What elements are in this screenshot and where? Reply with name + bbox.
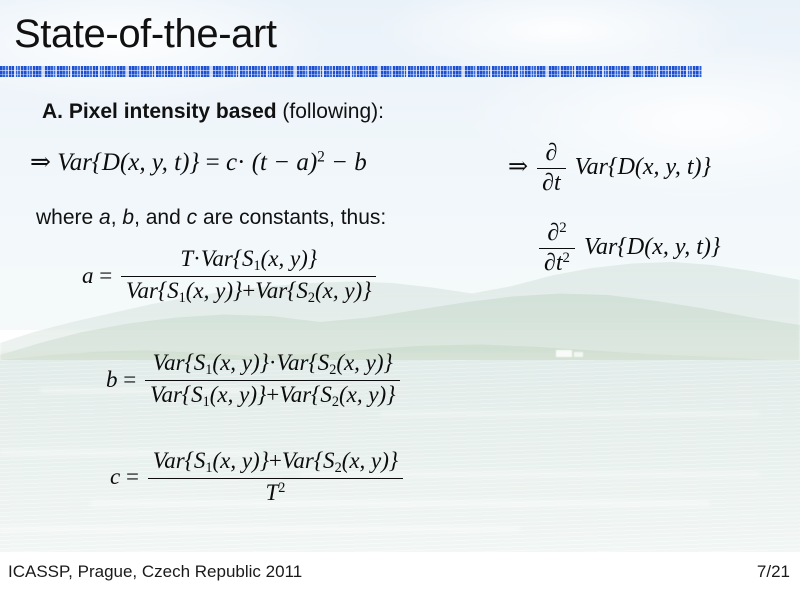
numerator-var-1: Var{S [153,448,206,473]
fraction-b: Var{S1(x, y)}·Var{S2(x, y)} Var{S1(x, y)… [145,350,400,411]
fraction-denominator: Var{S1(x, y)}+Var{S2(x, y)} [121,277,376,307]
equation-second-derivative: ∂2 ∂t2 Var{D(x, y, t)} [536,220,720,277]
fraction-numerator-symbol: ∂ [547,220,559,246]
denominator-var-2: Var{S [279,382,332,407]
numerator-args-1: (x, y)} [212,350,268,375]
footer-page-number: 7/21 [757,562,790,582]
fraction-numerator-exponent: 2 [559,220,566,236]
page-title: State-of-the-art [14,12,277,57]
equation-b: b = Var{S1(x, y)}·Var{S2(x, y)} Var{S1(x… [106,350,403,411]
numerator-args-2: (x, y)} [336,350,392,375]
equation-main-exponent: 2 [317,148,325,165]
where-sep-2: , and [134,206,187,229]
numerator-dot: · [193,246,201,271]
equation-main-dot: · [237,149,245,176]
denominator-args-1: (x, y)} [186,278,242,303]
denominator-args-2: (x, y)} [315,278,371,303]
fraction-numerator: Var{S1(x, y)}+Var{S2(x, y)} [148,448,403,479]
equation-c: c = Var{S1(x, y)}+Var{S2(x, y)} T2 [110,448,406,506]
equation-first-derivative-operand: Var{D(x, y, t)} [575,154,712,180]
equation-main-minus-b: − b [331,149,367,176]
equation-a-equals: = [99,263,112,289]
equation-a: a = T·Var{S1(x, y)} Var{S1(x, y)}+Var{S2… [82,246,379,307]
numerator-plus: + [269,448,282,473]
divider [0,66,702,77]
denominator-plus: + [266,382,279,407]
fraction-numerator: Var{S1(x, y)}·Var{S2(x, y)} [145,350,400,381]
denominator-exponent: 2 [278,480,285,496]
where-var-b: b [122,206,134,229]
equation-main-coefficient: c [226,149,237,176]
numerator-T: T [180,246,193,271]
equation-b-equals: = [123,367,136,393]
numerator-var: Var{S [201,246,254,271]
fraction-partial-dt: ∂ ∂t [537,140,566,197]
numerator-subscript: 1 [253,258,260,274]
denominator-var-1: Var{S [150,382,203,407]
denominator-subscript-2: 2 [332,394,339,410]
fraction-numerator: T·Var{S1(x, y)} [121,246,376,277]
fraction-denominator: T2 [148,479,403,506]
denominator-var-2: Var{S [255,278,308,303]
fraction-numerator: ∂2 [539,220,575,249]
equation-main-lhs: Var{D(x, y, t)} [57,149,199,176]
fraction-partial-dt2: ∂2 ∂t2 [539,220,575,277]
fraction-denominator-symbol: ∂t [544,250,563,276]
numerator-var-2: Var{S [282,448,335,473]
where-var-a: a [99,206,111,229]
equation-second-derivative-operand: Var{D(x, y, t)} [584,234,721,260]
denominator-subscript-1: 1 [179,290,186,306]
section-heading-regular: (following): [277,100,384,123]
numerator-args: (x, y)} [261,246,317,271]
denominator-subscript-2: 2 [308,290,315,306]
where-sep-1: , [111,206,123,229]
where-prefix: where [36,206,99,229]
numerator-args-1: (x, y)} [212,448,268,473]
implies-arrow: ⇒ [30,149,51,176]
denominator-subscript-1: 1 [203,394,210,410]
numerator-args-2: (x, y)} [342,448,398,473]
footer: ICASSP, Prague, Czech Republic 2011 7/21 [0,552,800,598]
denominator-args-2: (x, y)} [339,382,395,407]
implies-arrow-derivative: ⇒ [508,154,528,180]
where-var-c: c [187,206,198,229]
equation-a-lhs: a [82,263,94,289]
slide: State-of-the-art A. Pixel intensity base… [0,0,800,598]
where-suffix: are constants, thus: [197,206,386,229]
fraction-numerator: ∂ [537,140,566,169]
denominator-plus: + [242,278,255,303]
section-heading: A. Pixel intensity based (following): [42,100,384,124]
fraction-denominator: Var{S1(x, y)}+Var{S2(x, y)} [145,381,400,411]
equation-main: ⇒ Var{D(x, y, t)} = c· (t − a)2 − b [30,147,367,177]
fraction-denominator: ∂t [537,169,566,197]
fraction-denominator: ∂t2 [539,249,575,277]
denominator-T: T [265,480,278,505]
fraction-denominator-exponent: 2 [563,250,570,266]
equation-main-equals: = [206,149,220,176]
numerator-var-1: Var{S [153,350,206,375]
equation-c-lhs: c [110,464,120,490]
numerator-dot: · [269,350,277,375]
fraction-a: T·Var{S1(x, y)} Var{S1(x, y)}+Var{S2(x, … [121,246,376,307]
numerator-var-2: Var{S [277,350,330,375]
denominator-var-1: Var{S [126,278,179,303]
equation-main-paren: (t − a) [252,149,317,176]
fraction-c: Var{S1(x, y)}+Var{S2(x, y)} T2 [148,448,403,506]
denominator-args-1: (x, y)} [210,382,266,407]
where-line: where a, b, and c are constants, thus: [36,206,386,230]
equation-c-equals: = [126,464,139,490]
numerator-subscript-2: 2 [335,460,342,476]
equation-first-derivative: ⇒ ∂ ∂t Var{D(x, y, t)} [508,140,711,197]
section-heading-bold: A. Pixel intensity based [42,100,277,123]
equation-b-lhs: b [106,367,118,393]
footer-conference: ICASSP, Prague, Czech Republic 2011 [8,562,302,582]
